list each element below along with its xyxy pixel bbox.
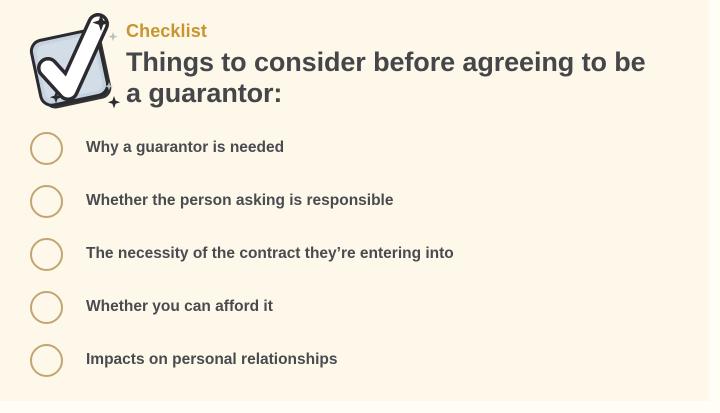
checkbox-circle-icon[interactable]: [30, 344, 63, 377]
checkbox-circle-icon[interactable]: [30, 238, 63, 271]
list-item[interactable]: Whether the person asking is responsible: [30, 185, 690, 218]
page-edge-bottom: [0, 401, 720, 413]
checkbox-circle-icon[interactable]: [30, 291, 63, 324]
checkbox-circle-icon[interactable]: [30, 132, 63, 165]
list-item-label: Why a guarantor is needed: [86, 139, 284, 158]
list-item[interactable]: Impacts on personal relationships: [30, 344, 690, 377]
list-item-label: Impacts on personal relationships: [86, 351, 338, 370]
header-text-block: Checklist Things to consider before agre…: [126, 8, 656, 109]
card-header: Checklist Things to consider before agre…: [22, 8, 692, 118]
eyebrow-label: Checklist: [126, 22, 656, 40]
page-title: Things to consider before agreeing to be…: [126, 47, 656, 109]
list-item[interactable]: Whether you can afford it: [30, 291, 690, 324]
list-item-label: Whether the person asking is responsible: [86, 192, 394, 211]
checklist-items: Why a guarantor is needed Whether the pe…: [30, 132, 690, 377]
list-item[interactable]: Why a guarantor is needed: [30, 132, 690, 165]
page-edge-right: [709, 0, 720, 413]
checklist-card: Checklist Things to consider before agre…: [0, 0, 720, 413]
list-item[interactable]: The necessity of the contract they’re en…: [30, 238, 690, 271]
checkbox-circle-icon[interactable]: [30, 185, 63, 218]
checklist-check-icon: [22, 8, 122, 118]
list-item-label: Whether you can afford it: [86, 298, 273, 317]
list-item-label: The necessity of the contract they’re en…: [86, 245, 454, 264]
